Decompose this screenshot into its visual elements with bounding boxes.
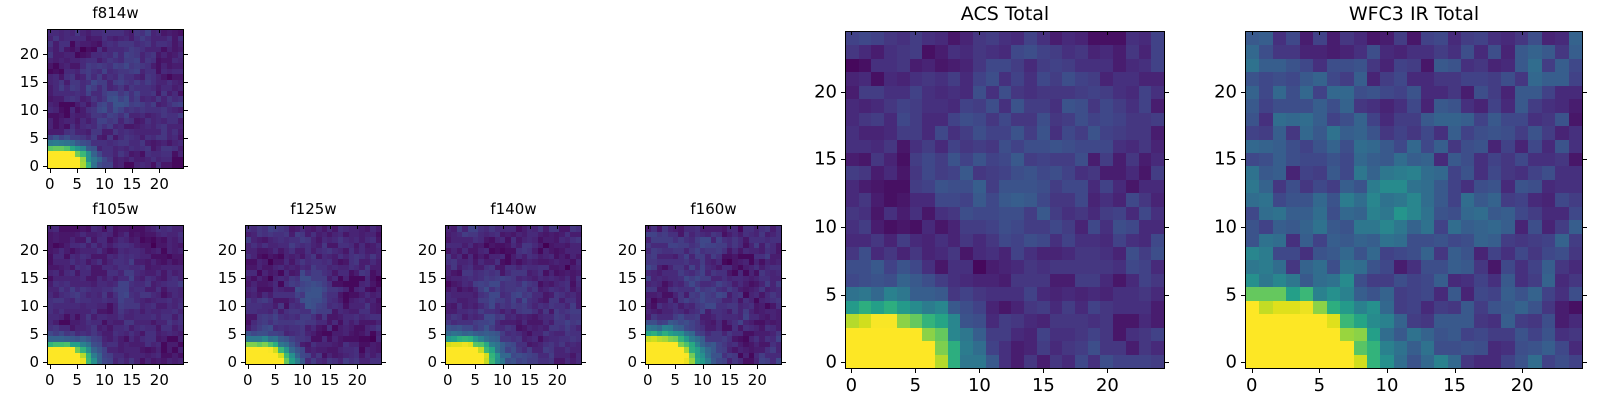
y-tick-right-f814w-0 <box>184 166 188 167</box>
y-tick-right-wfc3_ir_total-15 <box>1583 159 1587 160</box>
x-ticklabel-f125w-0: 0 <box>243 371 253 389</box>
y-tick-f160w-15 <box>641 278 645 279</box>
x-tick-top-f125w-10 <box>303 225 304 229</box>
heatmap-f140w <box>445 225 582 365</box>
y-ticklabel-f814w-20: 20 <box>0 45 39 63</box>
y-tick-right-f140w-5 <box>582 334 586 335</box>
x-tick-top-wfc3_ir_total-0 <box>1252 31 1253 35</box>
x-tick-top-acs_total-20 <box>1107 31 1108 35</box>
y-tick-f814w-5 <box>43 138 47 139</box>
x-tick-f125w-5 <box>275 365 276 369</box>
y-ticklabel-f105w-20: 20 <box>0 241 39 259</box>
y-tick-f125w-20 <box>241 250 245 251</box>
y-tick-right-f160w-5 <box>782 334 786 335</box>
y-tick-wfc3_ir_total-10 <box>1241 227 1245 228</box>
y-tick-right-wfc3_ir_total-20 <box>1583 92 1587 93</box>
x-tick-acs_total-0 <box>851 369 852 373</box>
y-ticklabel-f160w-20: 20 <box>585 241 637 259</box>
x-ticklabel-f125w-5: 5 <box>270 371 280 389</box>
y-ticklabel-f125w-15: 15 <box>185 269 237 287</box>
x-ticklabel-f814w-0: 0 <box>45 175 55 193</box>
x-ticklabel-f814w-5: 5 <box>72 175 82 193</box>
y-ticklabel-f160w-10: 10 <box>585 297 637 315</box>
x-ticklabel-wfc3_ir_total-15: 15 <box>1443 375 1466 396</box>
y-ticklabel-f140w-5: 5 <box>385 325 437 343</box>
x-tick-f105w-5 <box>77 365 78 369</box>
x-ticklabel-f160w-15: 15 <box>720 371 739 389</box>
x-tick-top-wfc3_ir_total-5 <box>1319 31 1320 35</box>
x-tick-top-f140w-20 <box>557 225 558 229</box>
x-tick-top-f160w-20 <box>757 225 758 229</box>
x-ticklabel-acs_total-10: 10 <box>968 375 991 396</box>
x-tick-top-acs_total-10 <box>979 31 980 35</box>
x-ticklabel-f105w-15: 15 <box>122 371 141 389</box>
x-tick-wfc3_ir_total-5 <box>1319 369 1320 373</box>
y-tick-wfc3_ir_total-5 <box>1241 295 1245 296</box>
y-tick-right-wfc3_ir_total-0 <box>1583 362 1587 363</box>
panel-f125w: f125w0510152005101520 <box>0 0 1600 400</box>
x-tick-top-f814w-10 <box>105 29 106 33</box>
y-tick-right-f125w-10 <box>382 306 386 307</box>
x-ticklabel-f125w-15: 15 <box>320 371 339 389</box>
x-tick-wfc3_ir_total-15 <box>1455 369 1456 373</box>
x-tick-f814w-15 <box>132 169 133 173</box>
heatmap-f814w <box>47 29 184 169</box>
y-tick-right-f814w-10 <box>184 110 188 111</box>
x-ticklabel-f814w-20: 20 <box>150 175 169 193</box>
y-tick-right-f160w-0 <box>782 362 786 363</box>
x-tick-top-f140w-0 <box>448 225 449 229</box>
x-tick-top-wfc3_ir_total-15 <box>1455 31 1456 35</box>
panel-f814w: f814w0510152005101520 <box>0 0 1600 400</box>
y-tick-f160w-0 <box>641 362 645 363</box>
panel-wfc3_ir_total: WFC3 IR Total0510152005101520 <box>0 0 1600 400</box>
y-ticklabel-wfc3_ir_total-0: 0 <box>1185 352 1237 373</box>
x-tick-top-f125w-0 <box>248 225 249 229</box>
x-ticklabel-wfc3_ir_total-10: 10 <box>1376 375 1399 396</box>
y-tick-f140w-5 <box>441 334 445 335</box>
x-tick-acs_total-5 <box>915 369 916 373</box>
y-tick-f125w-0 <box>241 362 245 363</box>
heatmap-acs_total <box>845 31 1165 369</box>
y-ticklabel-acs_total-5: 5 <box>785 284 837 305</box>
x-ticklabel-acs_total-0: 0 <box>846 375 857 396</box>
y-ticklabel-f814w-15: 15 <box>0 73 39 91</box>
x-tick-f125w-15 <box>330 365 331 369</box>
y-ticklabel-f105w-0: 0 <box>0 353 39 371</box>
y-ticklabel-f105w-15: 15 <box>0 269 39 287</box>
x-tick-top-f105w-5 <box>77 225 78 229</box>
y-tick-f814w-0 <box>43 166 47 167</box>
y-tick-right-f105w-15 <box>184 278 188 279</box>
x-tick-top-acs_total-5 <box>915 31 916 35</box>
y-tick-right-f140w-0 <box>582 362 586 363</box>
x-ticklabel-f814w-15: 15 <box>122 175 141 193</box>
y-ticklabel-acs_total-20: 20 <box>785 81 837 102</box>
y-ticklabel-f125w-5: 5 <box>185 325 237 343</box>
y-tick-f105w-15 <box>43 278 47 279</box>
y-tick-right-f140w-20 <box>582 250 586 251</box>
x-ticklabel-f814w-10: 10 <box>95 175 114 193</box>
x-ticklabel-wfc3_ir_total-20: 20 <box>1511 375 1534 396</box>
x-tick-acs_total-15 <box>1043 369 1044 373</box>
y-ticklabel-f140w-20: 20 <box>385 241 437 259</box>
y-ticklabel-acs_total-0: 0 <box>785 352 837 373</box>
x-tick-acs_total-20 <box>1107 369 1108 373</box>
y-tick-right-f105w-20 <box>184 250 188 251</box>
y-tick-right-acs_total-15 <box>1165 159 1169 160</box>
panel-title-f160w: f160w <box>645 200 782 218</box>
y-tick-right-f105w-10 <box>184 306 188 307</box>
x-tick-wfc3_ir_total-20 <box>1522 369 1523 373</box>
x-ticklabel-wfc3_ir_total-5: 5 <box>1314 375 1325 396</box>
y-tick-f105w-10 <box>43 306 47 307</box>
x-ticklabel-f140w-20: 20 <box>548 371 567 389</box>
y-tick-right-f160w-15 <box>782 278 786 279</box>
y-tick-f160w-5 <box>641 334 645 335</box>
x-tick-f125w-20 <box>357 365 358 369</box>
y-tick-f160w-20 <box>641 250 645 251</box>
x-tick-top-f140w-15 <box>530 225 531 229</box>
x-tick-top-f160w-15 <box>730 225 731 229</box>
y-tick-right-acs_total-10 <box>1165 227 1169 228</box>
y-tick-right-f125w-15 <box>382 278 386 279</box>
x-ticklabel-acs_total-5: 5 <box>910 375 921 396</box>
x-ticklabel-f140w-15: 15 <box>520 371 539 389</box>
y-ticklabel-f814w-5: 5 <box>0 129 39 147</box>
x-tick-f814w-5 <box>77 169 78 173</box>
y-ticklabel-f125w-0: 0 <box>185 353 237 371</box>
x-ticklabel-f105w-20: 20 <box>150 371 169 389</box>
panel-title-acs_total: ACS Total <box>845 3 1165 25</box>
heatmap-f105w <box>47 225 184 365</box>
x-tick-acs_total-10 <box>979 369 980 373</box>
y-tick-right-wfc3_ir_total-10 <box>1583 227 1587 228</box>
y-ticklabel-wfc3_ir_total-10: 10 <box>1185 217 1237 238</box>
x-ticklabel-acs_total-15: 15 <box>1032 375 1055 396</box>
panel-acs_total: ACS Total0510152005101520 <box>0 0 1600 400</box>
x-tick-top-f125w-20 <box>357 225 358 229</box>
y-ticklabel-f140w-0: 0 <box>385 353 437 371</box>
x-tick-f140w-15 <box>530 365 531 369</box>
y-ticklabel-f105w-5: 5 <box>0 325 39 343</box>
x-tick-top-f814w-0 <box>50 29 51 33</box>
x-tick-f125w-10 <box>303 365 304 369</box>
x-tick-top-acs_total-15 <box>1043 31 1044 35</box>
x-ticklabel-f140w-0: 0 <box>443 371 453 389</box>
x-ticklabel-f140w-10: 10 <box>493 371 512 389</box>
x-tick-top-wfc3_ir_total-20 <box>1522 31 1523 35</box>
x-tick-top-f105w-0 <box>50 225 51 229</box>
y-tick-right-f814w-15 <box>184 82 188 83</box>
x-tick-f160w-20 <box>757 365 758 369</box>
x-tick-f160w-15 <box>730 365 731 369</box>
heatmap-f125w <box>245 225 382 365</box>
y-ticklabel-f160w-15: 15 <box>585 269 637 287</box>
panel-title-f125w: f125w <box>245 200 382 218</box>
x-tick-f105w-15 <box>132 365 133 369</box>
y-ticklabel-f160w-0: 0 <box>585 353 637 371</box>
x-tick-top-wfc3_ir_total-10 <box>1387 31 1388 35</box>
x-tick-f140w-10 <box>503 365 504 369</box>
x-ticklabel-f105w-0: 0 <box>45 371 55 389</box>
y-tick-acs_total-0 <box>841 362 845 363</box>
y-ticklabel-f140w-15: 15 <box>385 269 437 287</box>
y-tick-f105w-20 <box>43 250 47 251</box>
y-ticklabel-wfc3_ir_total-20: 20 <box>1185 81 1237 102</box>
y-tick-right-wfc3_ir_total-5 <box>1583 295 1587 296</box>
x-ticklabel-f105w-5: 5 <box>72 371 82 389</box>
y-ticklabel-wfc3_ir_total-15: 15 <box>1185 149 1237 170</box>
y-tick-wfc3_ir_total-20 <box>1241 92 1245 93</box>
y-tick-wfc3_ir_total-0 <box>1241 362 1245 363</box>
y-tick-right-f814w-5 <box>184 138 188 139</box>
x-ticklabel-f160w-10: 10 <box>693 371 712 389</box>
y-ticklabel-f105w-10: 10 <box>0 297 39 315</box>
x-ticklabel-wfc3_ir_total-0: 0 <box>1246 375 1257 396</box>
x-tick-f140w-0 <box>448 365 449 369</box>
y-tick-f140w-20 <box>441 250 445 251</box>
x-tick-top-f160w-0 <box>648 225 649 229</box>
x-tick-f105w-0 <box>50 365 51 369</box>
y-tick-right-acs_total-5 <box>1165 295 1169 296</box>
y-tick-acs_total-20 <box>841 92 845 93</box>
x-tick-f814w-20 <box>159 169 160 173</box>
x-tick-top-f105w-10 <box>105 225 106 229</box>
y-tick-f125w-10 <box>241 306 245 307</box>
y-tick-f140w-0 <box>441 362 445 363</box>
x-tick-top-f814w-15 <box>132 29 133 33</box>
y-tick-acs_total-10 <box>841 227 845 228</box>
x-tick-top-acs_total-0 <box>851 31 852 35</box>
x-tick-top-f160w-10 <box>703 225 704 229</box>
y-tick-right-f105w-5 <box>184 334 188 335</box>
y-tick-f105w-5 <box>43 334 47 335</box>
y-tick-right-f160w-20 <box>782 250 786 251</box>
y-ticklabel-f125w-10: 10 <box>185 297 237 315</box>
panel-f105w: f105w0510152005101520 <box>0 0 1600 400</box>
y-tick-wfc3_ir_total-15 <box>1241 159 1245 160</box>
y-tick-right-f814w-20 <box>184 54 188 55</box>
y-tick-f814w-20 <box>43 54 47 55</box>
x-tick-top-f125w-15 <box>330 225 331 229</box>
y-ticklabel-f125w-20: 20 <box>185 241 237 259</box>
y-tick-right-f140w-10 <box>582 306 586 307</box>
x-tick-f160w-10 <box>703 365 704 369</box>
y-ticklabel-acs_total-15: 15 <box>785 149 837 170</box>
y-tick-right-acs_total-0 <box>1165 362 1169 363</box>
y-tick-f140w-10 <box>441 306 445 307</box>
panel-title-f105w: f105w <box>47 200 184 218</box>
x-tick-wfc3_ir_total-10 <box>1387 369 1388 373</box>
x-ticklabel-f140w-5: 5 <box>470 371 480 389</box>
y-ticklabel-f814w-10: 10 <box>0 101 39 119</box>
x-tick-top-f125w-5 <box>275 225 276 229</box>
panel-title-f140w: f140w <box>445 200 582 218</box>
panel-f160w: f160w0510152005101520 <box>0 0 1600 400</box>
y-tick-f125w-15 <box>241 278 245 279</box>
y-tick-right-f125w-20 <box>382 250 386 251</box>
x-tick-f140w-5 <box>475 365 476 369</box>
x-tick-top-f814w-20 <box>159 29 160 33</box>
y-ticklabel-f160w-5: 5 <box>585 325 637 343</box>
y-ticklabel-wfc3_ir_total-5: 5 <box>1185 284 1237 305</box>
x-tick-top-f160w-5 <box>675 225 676 229</box>
y-tick-f125w-5 <box>241 334 245 335</box>
x-tick-f160w-0 <box>648 365 649 369</box>
x-tick-top-f814w-5 <box>77 29 78 33</box>
x-tick-top-f105w-20 <box>159 225 160 229</box>
x-tick-f125w-0 <box>248 365 249 369</box>
panel-title-f814w: f814w <box>47 4 184 22</box>
x-tick-top-f105w-15 <box>132 225 133 229</box>
y-tick-acs_total-5 <box>841 295 845 296</box>
y-tick-f814w-10 <box>43 110 47 111</box>
y-tick-right-f160w-10 <box>782 306 786 307</box>
x-ticklabel-f125w-10: 10 <box>293 371 312 389</box>
y-tick-right-f125w-0 <box>382 362 386 363</box>
y-tick-f105w-0 <box>43 362 47 363</box>
panel-title-wfc3_ir_total: WFC3 IR Total <box>1245 3 1583 25</box>
panel-f140w: f140w0510152005101520 <box>0 0 1600 400</box>
x-ticklabel-f105w-10: 10 <box>95 371 114 389</box>
x-tick-f140w-20 <box>557 365 558 369</box>
x-tick-f105w-20 <box>159 365 160 369</box>
y-tick-right-f140w-15 <box>582 278 586 279</box>
x-ticklabel-f125w-20: 20 <box>348 371 367 389</box>
x-tick-top-f140w-10 <box>503 225 504 229</box>
y-ticklabel-acs_total-10: 10 <box>785 217 837 238</box>
y-ticklabel-f140w-10: 10 <box>385 297 437 315</box>
x-ticklabel-f160w-0: 0 <box>643 371 653 389</box>
y-tick-right-acs_total-20 <box>1165 92 1169 93</box>
x-ticklabel-f160w-5: 5 <box>670 371 680 389</box>
y-ticklabel-f814w-0: 0 <box>0 157 39 175</box>
y-tick-f160w-10 <box>641 306 645 307</box>
x-tick-f814w-10 <box>105 169 106 173</box>
x-ticklabel-f160w-20: 20 <box>748 371 767 389</box>
x-tick-wfc3_ir_total-0 <box>1252 369 1253 373</box>
x-ticklabel-acs_total-20: 20 <box>1096 375 1119 396</box>
x-tick-top-f140w-5 <box>475 225 476 229</box>
x-tick-f814w-0 <box>50 169 51 173</box>
y-tick-acs_total-15 <box>841 159 845 160</box>
y-tick-f814w-15 <box>43 82 47 83</box>
heatmap-wfc3_ir_total <box>1245 31 1583 369</box>
y-tick-f140w-15 <box>441 278 445 279</box>
x-tick-f105w-10 <box>105 365 106 369</box>
y-tick-right-f125w-5 <box>382 334 386 335</box>
heatmap-f160w <box>645 225 782 365</box>
x-tick-f160w-5 <box>675 365 676 369</box>
y-tick-right-f105w-0 <box>184 362 188 363</box>
